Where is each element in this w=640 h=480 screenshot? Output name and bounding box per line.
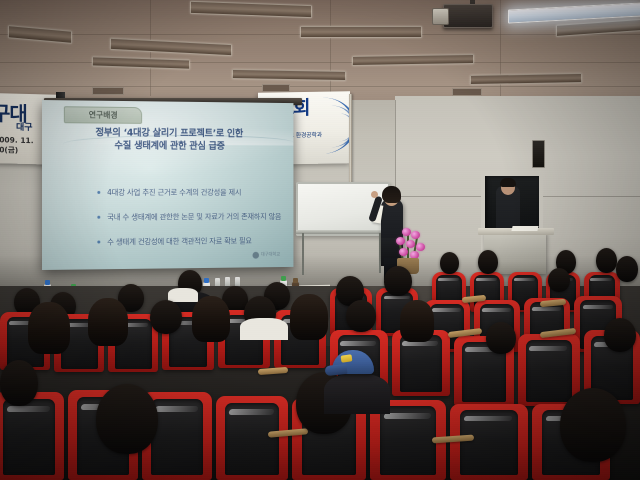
auditorium-seat[interactable]	[518, 334, 580, 406]
audience-head-long-hair	[290, 294, 328, 340]
audience-head-long-hair	[88, 298, 128, 346]
presenter-hand	[371, 191, 378, 198]
ceiling-vent	[262, 84, 290, 92]
screen-vignette	[42, 100, 293, 270]
audience-head	[486, 322, 516, 354]
audience-head-foreground	[560, 388, 626, 462]
ceiling-light-fixture	[352, 54, 474, 66]
audience-head	[596, 248, 617, 273]
projected-slide: 연구배경 정부의 ‘4대강 살리기 프로젝트’로 인한 수질 생태계에 관한 관…	[42, 100, 293, 270]
audience-head	[150, 300, 182, 334]
audience-head-foreground	[96, 384, 158, 454]
ceiling-light-fixture	[300, 26, 422, 38]
cap-wearer-shoulders	[324, 374, 390, 414]
audience-head	[604, 318, 636, 352]
ceiling-light-fixture	[470, 73, 582, 85]
ceiling-projector	[443, 4, 493, 28]
audience-head-long-hair	[400, 300, 434, 342]
orchid-bloom	[406, 240, 415, 248]
auditorium-seat[interactable]	[216, 396, 288, 480]
audience-head-long-hair	[28, 302, 70, 354]
audience-head	[346, 300, 376, 332]
banner-left-subtitle: 대구	[16, 120, 33, 133]
orchid-bloom	[411, 231, 420, 239]
wall-speaker-icon	[532, 140, 545, 168]
audience-white-jacket	[240, 318, 288, 340]
banner-wave-graphic	[308, 95, 350, 158]
audience-white-shirt	[168, 288, 198, 302]
whiteboard-leg	[302, 233, 304, 275]
lecture-hall-photo: 구대 대구 2009. 11. 20(금) 발표회 표회 대구대학교 환경공학과…	[0, 0, 640, 480]
audience-head	[616, 256, 638, 282]
ceiling-vent	[452, 88, 482, 96]
whiteboard-tray	[296, 230, 386, 234]
projection-screen: 연구배경 정부의 ‘4대강 살리기 프로젝트’로 인한 수질 생태계에 관한 관…	[42, 100, 293, 270]
audience-head	[440, 252, 459, 274]
audience-head	[384, 266, 412, 296]
presenter-hair	[382, 186, 401, 203]
ceiling-vent	[92, 87, 124, 95]
audience-head-long-hair	[192, 296, 230, 342]
orchid-bloom	[396, 237, 405, 245]
cap-logo-icon	[341, 354, 353, 362]
audience-head	[478, 250, 498, 274]
orchid-bloom	[416, 243, 425, 251]
ceiling-light-fixture	[232, 69, 346, 81]
lectern-papers	[511, 226, 538, 231]
orchid-bloom	[399, 248, 408, 256]
auditorium-seat[interactable]	[0, 392, 64, 480]
audience-head	[0, 360, 38, 406]
moderator-hair	[500, 178, 516, 187]
audience-head	[548, 268, 570, 292]
orchid-bloom	[402, 228, 411, 236]
auditorium-seat[interactable]	[450, 404, 528, 480]
